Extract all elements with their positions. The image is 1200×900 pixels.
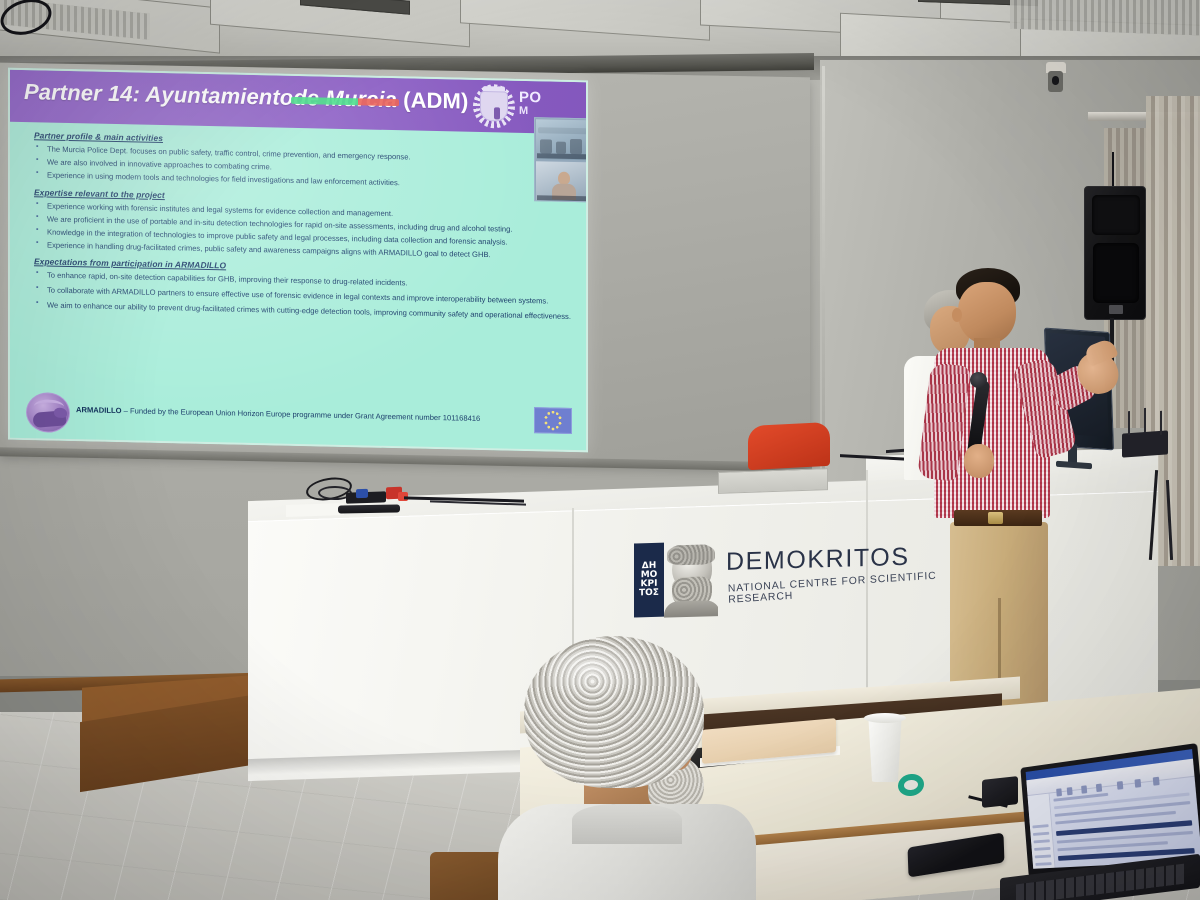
projected-slide: Partner 14: Ayuntamientode Murcia (ADM) … <box>8 68 588 453</box>
blue-connector <box>356 489 368 498</box>
connection-plate <box>718 468 828 494</box>
slide-bullet-list: Experience working with forensic institu… <box>36 200 574 262</box>
slide-bullet-list: The Murcia Police Dept. focuses on publi… <box>36 143 574 192</box>
police-crest-icon <box>473 84 515 129</box>
eu-flag-icon <box>534 407 572 434</box>
collar <box>572 804 682 844</box>
cup-rim <box>864 713 906 723</box>
slide-title-prefix: Partner 14: Ayuntamiento <box>24 79 293 110</box>
conference-room-scene: Partner 14: Ayuntamientode Murcia (ADM) … <box>0 0 1200 900</box>
laptop[interactable] <box>1000 756 1200 900</box>
demokritos-logo: ΔΗ ΜΟ ΚΡΙ ΤΟΣ DEMOKRITOS NATIONAL CENTRE… <box>634 532 954 621</box>
left-hand <box>964 444 994 478</box>
org-logo-line1: PO <box>519 90 541 106</box>
toolbar-icon[interactable] <box>1056 788 1062 796</box>
toolbar-icon[interactable] <box>1096 784 1102 793</box>
org-logo-text: PO M <box>519 90 541 118</box>
ear <box>952 308 962 322</box>
app-sidebar[interactable] <box>1028 794 1056 869</box>
speaker-cable <box>1112 152 1114 188</box>
toolbar-icon[interactable] <box>1134 779 1141 788</box>
demokritos-greek-letters: ΔΗ ΜΟ ΚΡΙ ΤΟΣ <box>634 543 664 618</box>
toolbar-icon[interactable] <box>1153 777 1160 786</box>
slide-footer-text: ARMADILLO – Funded by the European Union… <box>76 405 480 423</box>
red-chair[interactable] <box>748 422 830 470</box>
philosopher-bust-icon <box>664 544 718 618</box>
slide-bullet-list: To enhance rapid, on-site detection capa… <box>36 270 574 323</box>
paper-sheet <box>286 503 344 517</box>
demokritos-wordmark: DEMOKRITOS <box>726 543 910 577</box>
presenter-remote[interactable] <box>338 504 400 513</box>
ceiling <box>0 0 1200 62</box>
armadillo-logo-icon <box>26 392 70 433</box>
toolbar-icon[interactable] <box>1081 785 1087 793</box>
wifi-router <box>1122 430 1168 457</box>
footer-project-name: ARMADILLO <box>76 405 122 415</box>
person-audience-seated <box>498 636 758 900</box>
paper-cup <box>866 716 904 782</box>
ceiling-tile <box>460 0 710 41</box>
toolbar-icon[interactable] <box>1067 787 1073 795</box>
face <box>958 282 1016 344</box>
camera-lens-icon <box>1052 76 1059 85</box>
belt-buckle <box>988 512 1003 524</box>
toolbar-icon[interactable] <box>1117 781 1124 790</box>
slide-title-suffix: (ADM) <box>403 87 468 113</box>
footer-funding-text: – Funded by the European Union Horizon E… <box>122 406 481 423</box>
greek-line-4: ΤΟΣ <box>639 589 659 599</box>
slide-title-struck-text: de Murcia <box>293 85 397 112</box>
org-logo-line2: M <box>519 106 541 118</box>
laptop-screen[interactable] <box>1026 749 1200 869</box>
